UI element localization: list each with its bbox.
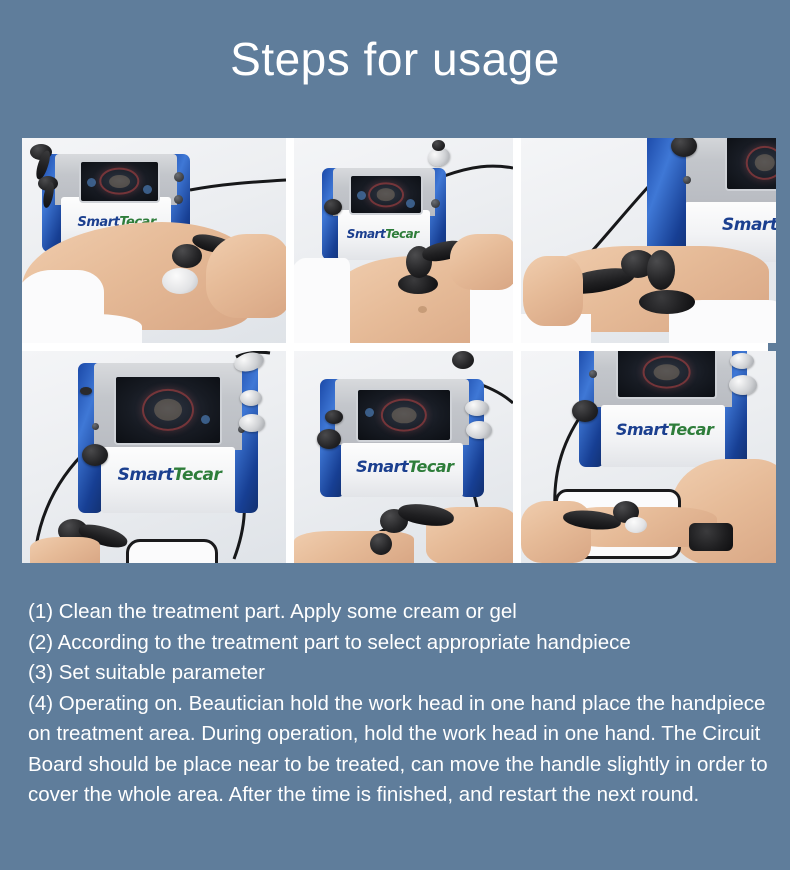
gallery-photo-3: Smart (521, 138, 776, 343)
photo-gallery: SmartTecar (22, 138, 768, 563)
gallery-photo-4: SmartTecar (22, 351, 286, 563)
brand-logo: SmartTecar (616, 420, 713, 439)
page-title: Steps for usage (0, 34, 790, 85)
instruction-line-3: (3) Set suitable parameter (28, 658, 768, 689)
tecar-device: SmartTecar (579, 351, 747, 467)
device-screen (79, 160, 160, 203)
brand-logo: Smart (722, 215, 776, 235)
device-screen (356, 388, 452, 442)
gallery-photo-6: SmartTecar (521, 351, 776, 563)
device-screen (725, 138, 776, 191)
gallery-photo-5: SmartTecar (294, 351, 513, 563)
tecar-device: Smart (647, 138, 776, 262)
gallery-photo-1: SmartTecar (22, 138, 286, 343)
instructions-block: (1) Clean the treatment part. Apply some… (28, 597, 768, 811)
gallery-photo-2: SmartTecar (294, 138, 513, 343)
instruction-line-4: (4) Operating on. Beautician hold the wo… (28, 689, 768, 811)
tecar-device: SmartTecar (78, 363, 258, 513)
device-screen (349, 174, 422, 215)
brand-logo: SmartTecar (347, 227, 419, 241)
device-screen (616, 351, 717, 399)
tecar-device: SmartTecar (320, 379, 484, 497)
instruction-line-2: (2) According to the treatment part to s… (28, 628, 768, 659)
brand-logo: SmartTecar (356, 457, 453, 476)
instruction-line-1: (1) Clean the treatment part. Apply some… (28, 597, 768, 628)
device-screen (114, 375, 222, 445)
brand-logo: SmartTecar (118, 465, 222, 485)
